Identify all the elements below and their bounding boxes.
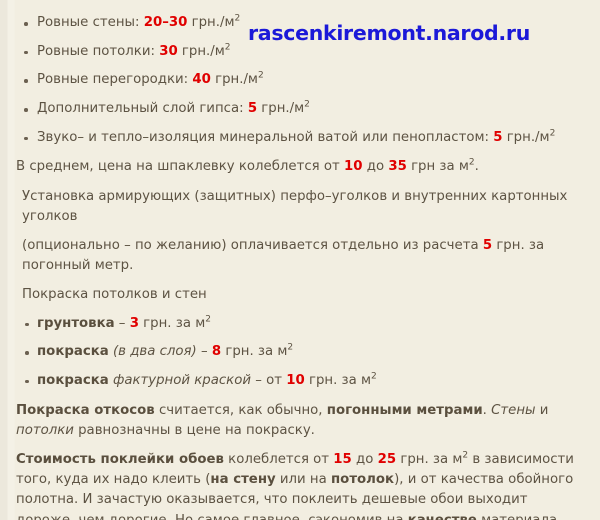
paragraph-text: до [363, 159, 389, 174]
price-value: 3 [130, 316, 139, 331]
price-item-label: Дополнительный слой гипса: [37, 101, 248, 116]
price-item-label: Ровные стены: [37, 15, 144, 30]
paint-item-prefix: от [266, 373, 286, 388]
emphasis-bold: погонными метрами [327, 403, 483, 418]
list-item: покраска (в два слоя) – 8 грн. за м2 [16, 343, 584, 361]
emphasis-bold: потолок [331, 472, 394, 487]
list-item: грунтовка – 3 грн. за м2 [16, 315, 584, 333]
paint-item-qualifier: фактурной краской [109, 373, 251, 388]
price-value: 40 [192, 72, 211, 87]
paragraph-text: . [483, 403, 491, 418]
price-value: 5 [483, 238, 492, 253]
emphasis-italic: Стены [491, 403, 535, 418]
paragraph-text: В среднем, цена на шпаклевку колеблется … [16, 159, 344, 174]
price-value: 20–30 [144, 15, 188, 30]
price-unit-exponent: 2 [371, 372, 377, 382]
paragraph-text: грн за м [407, 159, 469, 174]
painting-price-list: грунтовка – 3 грн. за м2 покраска (в два… [16, 315, 584, 390]
price-unit-exponent: 2 [225, 42, 231, 52]
paragraph-text: равнозначны в цене на покраску. [74, 423, 315, 438]
price-unit-exponent: 2 [235, 14, 241, 24]
price-unit: грн. за м [139, 316, 205, 331]
price-unit: грн./м [211, 72, 258, 87]
price-unit: грн. за м [221, 344, 287, 359]
paint-item-name: грунтовка [37, 316, 115, 331]
wallpaper-paragraph: Стоимость поклейки обоев колеблется от 1… [16, 450, 584, 520]
price-item-label: Ровные потолки: [37, 44, 159, 59]
emphasis-bold: Покраска откосов [16, 403, 155, 418]
list-item: Дополнительный слой гипса: 5 грн./м2 [16, 100, 584, 118]
price-value: 5 [248, 101, 257, 116]
emphasis-italic: потолки [16, 423, 74, 438]
price-value: 30 [159, 44, 178, 59]
price-unit-exponent: 2 [550, 128, 556, 138]
paint-item-dash: – [197, 344, 212, 359]
price-unit-exponent: 2 [258, 71, 264, 81]
paragraph-text: Установка армирующих (защитных) перфо–уг… [22, 189, 567, 224]
average-price-paragraph: В среднем, цена на шпаклевку колеблется … [16, 157, 584, 177]
slopes-paragraph: Покраска откосов считается, как обычно, … [16, 401, 584, 441]
paragraph-text: (опционально – по желанию) оплачивается … [22, 238, 483, 253]
price-unit: грн. за м [305, 373, 371, 388]
paint-item-name: покраска [37, 344, 109, 359]
paragraph-text: или на [276, 472, 331, 487]
paint-item-name: покраска [37, 373, 109, 388]
price-unit: грн./м [187, 15, 234, 30]
price-value: 25 [378, 452, 397, 467]
price-item-label: Ровные перегородки: [37, 72, 192, 87]
emphasis-bold: качестве [408, 513, 477, 520]
paragraph-text: и [536, 403, 549, 418]
price-unit: грн./м [257, 101, 304, 116]
emphasis-bold: на стену [210, 472, 275, 487]
price-item-label: Звуко– и тепло–изоляция минеральной вато… [37, 130, 493, 145]
price-value: 8 [212, 344, 221, 359]
price-unit-exponent: 2 [205, 314, 211, 324]
list-item: Ровные потолки: 30 грн./м2 [16, 43, 584, 61]
paragraph-text: до [352, 452, 378, 467]
price-unit: грн./м [178, 44, 225, 59]
price-value: 10 [286, 373, 305, 388]
price-value: 10 [344, 159, 363, 174]
corners-paragraph-line1: Установка армирующих (защитных) перфо–уг… [16, 187, 584, 227]
list-item: Ровные стены: 20–30 грн./м2 [16, 14, 584, 32]
price-unit: грн./м [502, 130, 549, 145]
price-value: 35 [388, 159, 407, 174]
corners-paragraph-line2: (опционально – по желанию) оплачивается … [16, 236, 584, 276]
paragraph-text: колеблется от [224, 452, 333, 467]
paint-item-dash: – [115, 316, 130, 331]
paint-item-qualifier: (в два слоя) [109, 344, 197, 359]
list-item: покраска фактурной краской – от 10 грн. … [16, 372, 584, 390]
list-item: Ровные перегородки: 40 грн./м2 [16, 71, 584, 89]
painting-section-heading: Покраска потолков и стен [16, 285, 584, 305]
page-content: rascenkiremont.narod.ru Ровные стены: 20… [0, 0, 600, 520]
paint-item-dash: – [251, 373, 266, 388]
paragraph-text: . [475, 159, 479, 174]
price-unit-exponent: 2 [287, 343, 293, 353]
price-value: 15 [333, 452, 352, 467]
emphasis-bold: Стоимость поклейки обоев [16, 452, 224, 467]
paragraph-text: грн. за м [396, 452, 462, 467]
list-item: Звуко– и тепло–изоляция минеральной вато… [16, 129, 584, 147]
paragraph-text: считается, как обычно, [155, 403, 327, 418]
price-unit-exponent: 2 [304, 100, 310, 110]
